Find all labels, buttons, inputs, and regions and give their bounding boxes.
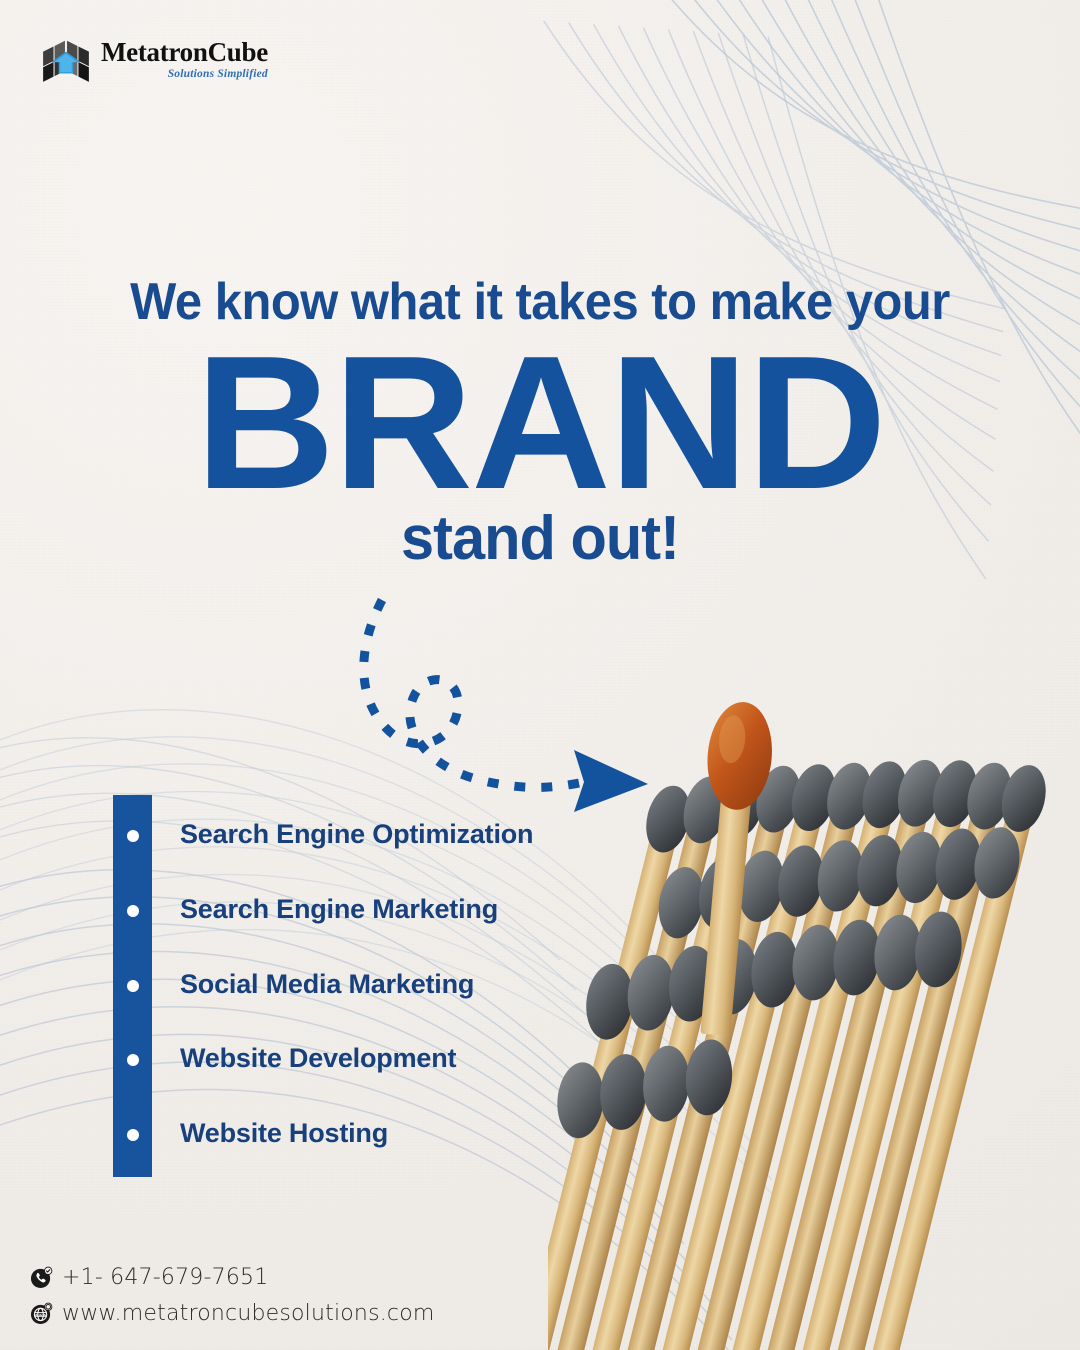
phone-number: +1- 647-679-7651	[62, 1265, 268, 1290]
logo-name: MetatronCube	[101, 39, 268, 66]
contact-footer: +1- 647-679-7651 www www.metatroncubesol…	[30, 1254, 435, 1326]
services-list: Search Engine Optimization Search Engine…	[113, 795, 633, 1177]
contact-website-row[interactable]: www www.metatroncubesolutions.com	[30, 1301, 435, 1326]
website-url: www.metatroncubesolutions.com	[62, 1301, 435, 1326]
cube-logo-icon	[40, 34, 92, 86]
service-item-smm[interactable]: Social Media Marketing	[180, 969, 474, 1000]
bullet-dot	[127, 980, 139, 992]
headline-brand-word: BRAND	[0, 332, 1080, 514]
service-item-sem[interactable]: Search Engine Marketing	[180, 894, 498, 925]
brand-logo: MetatronCube Solutions Simplified	[40, 34, 268, 86]
contact-phone-row[interactable]: +1- 647-679-7651	[30, 1265, 435, 1290]
phone-icon	[30, 1266, 53, 1289]
bullet-dot	[127, 905, 139, 917]
bullet-dot	[127, 1054, 139, 1066]
headline-block: We know what it takes to make your BRAND…	[0, 276, 1080, 570]
headline-line-3: stand out!	[22, 508, 1059, 570]
logo-tagline: Solutions Simplified	[101, 69, 268, 81]
service-item-seo[interactable]: Search Engine Optimization	[180, 819, 533, 850]
service-item-web-development[interactable]: Website Development	[180, 1043, 456, 1074]
globe-icon: www	[30, 1302, 53, 1325]
service-item-web-hosting[interactable]: Website Hosting	[180, 1118, 388, 1149]
bullet-dot	[127, 830, 139, 842]
logo-wordmark: MetatronCube Solutions Simplified	[101, 39, 268, 81]
svg-text:www: www	[35, 1314, 47, 1319]
poster-canvas: MetatronCube Solutions Simplified We kno…	[0, 0, 1080, 1350]
bullet-dot	[127, 1129, 139, 1141]
